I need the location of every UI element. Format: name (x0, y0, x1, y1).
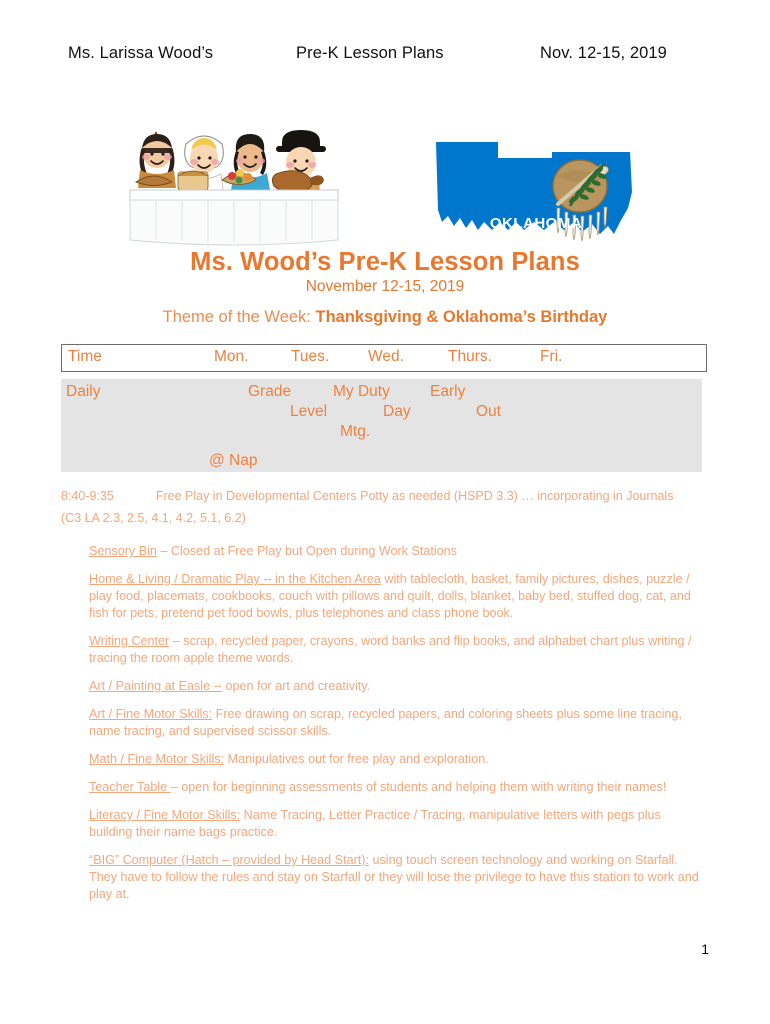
column-header-mon: Mon. (214, 348, 248, 366)
list-item: “BIG” Computer (Hatch – provided by Head… (89, 852, 701, 903)
schedule-header-row: Time Mon. Tues. Wed. Thurs. Fri. (61, 344, 707, 372)
daily-level: Level (290, 403, 327, 421)
list-item: Sensory Bin – Closed at Free Play but Op… (89, 543, 701, 560)
theme-of-week-line: Theme of the Week: Thanksgiving & Oklaho… (0, 308, 770, 327)
center-name: “BIG” Computer (Hatch – provided by Head… (89, 853, 369, 867)
list-item: Home & Living / Dramatic Play -- in the … (89, 571, 701, 622)
daily-nap: @ Nap (209, 452, 257, 470)
theme-value: Thanksgiving & Oklahoma’s Birthday (315, 308, 607, 326)
learning-centers-list: Sensory Bin – Closed at Free Play but Op… (89, 543, 701, 914)
column-header-wed: Wed. (368, 348, 404, 366)
center-name: Literacy / Fine Motor Skills: (89, 808, 240, 822)
daily-my-duty: My Duty (333, 383, 390, 401)
oklahoma-label: OKLAHOMA (490, 215, 582, 232)
page-subtitle-date: November 12-15, 2019 (0, 278, 770, 296)
list-item: Art / Painting at Easle -- open for art … (89, 678, 701, 695)
list-item: Art / Fine Motor Skills: Free drawing on… (89, 706, 701, 740)
daily-early: Early (430, 383, 465, 401)
center-description: Manipulatives out for free play and expl… (224, 752, 489, 766)
center-name: Math / Fine Motor Skills: (89, 752, 224, 766)
time-block-text: Free Play in Developmental Centers Potty… (61, 489, 673, 525)
list-item: Writing Center – scrap, recycled paper, … (89, 633, 701, 667)
center-name: Writing Center (89, 634, 169, 648)
column-header-tues: Tues. (291, 348, 329, 366)
time-block-paragraph: 8:40-9:35Free Play in Developmental Cent… (61, 486, 686, 530)
thanksgiving-children-clipart (126, 124, 342, 246)
center-name: Sensory Bin (89, 544, 157, 558)
center-name: Art / Painting at Easle -- (89, 679, 222, 693)
center-name: Teacher Table (89, 780, 171, 794)
column-header-time: Time (68, 348, 102, 366)
lesson-plan-page: Ms. Larissa Wood’s Pre-K Lesson Plans No… (0, 0, 770, 1024)
page-title: Ms. Wood’s Pre-K Lesson Plans (0, 248, 770, 277)
list-item: Literacy / Fine Motor Skills: Name Traci… (89, 807, 701, 841)
column-header-thurs: Thurs. (448, 348, 492, 366)
page-number: 1 (0, 941, 709, 957)
oklahoma-state-map-icon: OKLAHOMA (432, 130, 640, 243)
center-description: – open for beginning assessments of stud… (171, 780, 667, 794)
daily-day: Day (383, 403, 411, 421)
center-description: – Closed at Free Play but Open during Wo… (157, 544, 457, 558)
center-description: – scrap, recycled paper, crayons, word b… (89, 634, 692, 665)
time-block-time: 8:40-9:35 (61, 489, 114, 503)
daily-grade: Grade (248, 383, 291, 401)
list-item: Teacher Table – open for beginning asses… (89, 779, 701, 796)
daily-schedule-row: Daily Grade Level Mtg. @ Nap My Duty Day… (61, 379, 702, 472)
daily-mtg: Mtg. (340, 423, 370, 441)
daily-label: Daily (66, 383, 100, 401)
center-name: Home & Living / Dramatic Play -- in the … (89, 572, 381, 586)
clipart-band: OKLAHOMA (0, 118, 770, 246)
center-name: Art / Fine Motor Skills: (89, 707, 212, 721)
header-document-title: Pre-K Lesson Plans (296, 44, 540, 63)
header-teacher-name: Ms. Larissa Wood’s (68, 44, 296, 63)
document-running-header: Ms. Larissa Wood’s Pre-K Lesson Plans No… (68, 44, 708, 63)
column-header-fri: Fri. (540, 348, 562, 366)
daily-out: Out (476, 403, 501, 421)
list-item: Math / Fine Motor Skills: Manipulatives … (89, 751, 701, 768)
center-description: open for art and creativity. (222, 679, 370, 693)
theme-label: Theme of the Week: (163, 308, 316, 326)
header-date-range: Nov. 12-15, 2019 (540, 44, 708, 63)
